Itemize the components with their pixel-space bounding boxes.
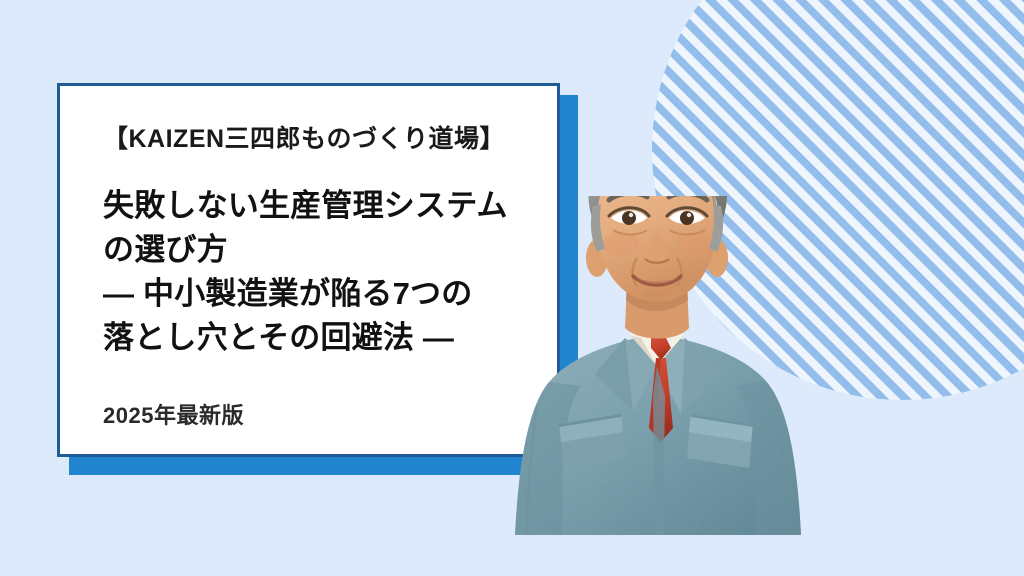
title-line-2: の選び方: [103, 228, 539, 272]
person-illustration: [505, 196, 810, 536]
title-card: 【KAIZEN三四郎ものづくり道場】 失敗しない生産管理システム の選び方 ― …: [57, 83, 560, 457]
title-line-4: 落とし穴とその回避法 ―: [103, 316, 539, 360]
edition-label: 2025年最新版: [103, 398, 539, 430]
title-line-1: 失敗しない生産管理システム: [103, 184, 539, 228]
title-card-content: 【KAIZEN三四郎ものづくり道場】 失敗しない生産管理システム の選び方 ― …: [103, 124, 539, 430]
slide-canvas: 【KAIZEN三四郎ものづくり道場】 失敗しない生産管理システム の選び方 ― …: [0, 0, 1024, 576]
page-title: 失敗しない生産管理システム の選び方 ― 中小製造業が陥る7つの 落とし穴とその…: [103, 184, 539, 360]
face: [597, 196, 717, 302]
jacket: [515, 316, 801, 535]
title-line-3: ― 中小製造業が陥る7つの: [103, 272, 539, 316]
series-kicker: 【KAIZEN三四郎ものづくり道場】: [103, 124, 539, 154]
